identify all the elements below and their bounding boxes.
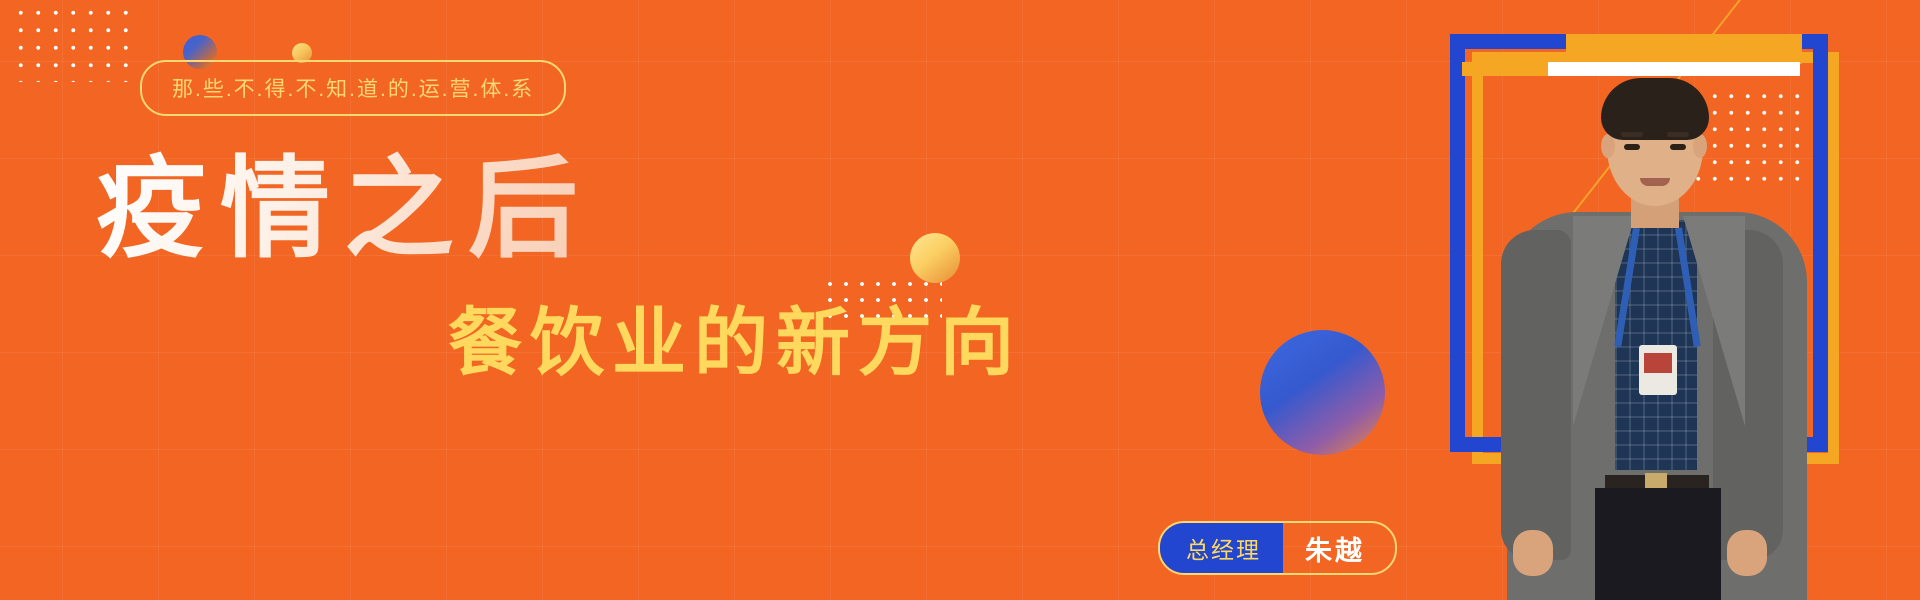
speaker-badge: 总经理 朱越	[1158, 521, 1397, 575]
speaker-eyebrow-left	[1621, 132, 1643, 137]
speaker-role: 总经理	[1160, 523, 1283, 573]
tagline-text: 那.些.不.得.不.知.道.的.运.营.体.系	[172, 73, 534, 103]
speaker-id-badge	[1639, 345, 1677, 395]
speaker-arm-left	[1501, 230, 1571, 560]
speaker-hand-left	[1513, 530, 1553, 576]
tagline-pill: 那.些.不.得.不.知.道.的.运.营.体.系	[140, 60, 566, 116]
speaker-hair	[1601, 78, 1709, 140]
speaker-eye-right	[1670, 144, 1686, 150]
speaker-name: 朱越	[1283, 523, 1395, 573]
page-subtitle: 餐饮业的新方向	[448, 300, 1022, 385]
speaker-eyebrow-right	[1667, 132, 1689, 137]
gradient-sphere-yellow-medium	[910, 233, 960, 283]
speaker-mouth	[1640, 178, 1670, 186]
dot-grid-icon-topleft	[12, 4, 136, 82]
promo-banner: 那.些.不.得.不.知.道.的.运.营.体.系 疫情之后 餐饮业的新方向	[0, 0, 1920, 600]
speaker-eye-left	[1624, 144, 1640, 150]
gradient-sphere-blue-large	[1260, 330, 1385, 455]
speaker-hand-right	[1727, 530, 1767, 576]
speaker-photo	[1455, 60, 1825, 600]
speaker-lapel-left	[1573, 216, 1635, 426]
speaker-trousers	[1595, 488, 1721, 600]
page-title: 疫情之后	[96, 148, 592, 271]
